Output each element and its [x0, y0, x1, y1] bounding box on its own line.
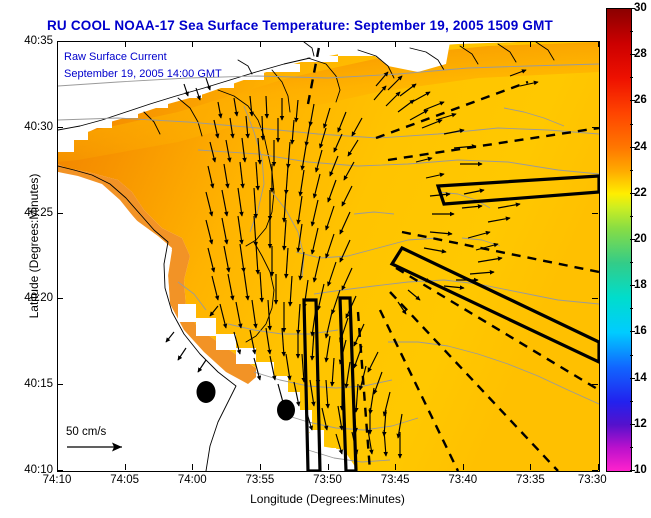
colorbar-minor-tick [630, 216, 633, 217]
colorbar-tick-label: 20 [634, 233, 647, 245]
colorbar-minor-tick [630, 77, 633, 78]
colorbar-tick-label: 26 [634, 94, 647, 106]
colorbar-tick-label: 10 [634, 464, 647, 476]
colorbar-minor-tick [630, 401, 633, 402]
colorbar-minor-tick [630, 262, 633, 263]
colorbar-tick-label: 16 [634, 325, 647, 337]
colorbar-tick-label: 22 [634, 187, 647, 199]
colorbar-tick-label: 12 [634, 418, 647, 430]
colorbar-tick-layer: 3028262422201816141210 [0, 0, 651, 518]
colorbar-minor-tick [630, 355, 633, 356]
colorbar-minor-tick [630, 124, 633, 125]
colorbar-tick-label: 28 [634, 48, 647, 60]
colorbar-minor-tick [630, 170, 633, 171]
colorbar-tick-label: 30 [634, 2, 647, 14]
colorbar-minor-tick [630, 308, 633, 309]
colorbar-tick-label: 18 [634, 279, 647, 291]
colorbar-minor-tick [630, 31, 633, 32]
colorbar-minor-tick [630, 447, 633, 448]
colorbar-tick-label: 14 [634, 372, 647, 384]
sst-map-figure: RU COOL NOAA-17 Sea Surface Temperature:… [0, 0, 651, 518]
colorbar-tick-label: 24 [634, 141, 647, 153]
